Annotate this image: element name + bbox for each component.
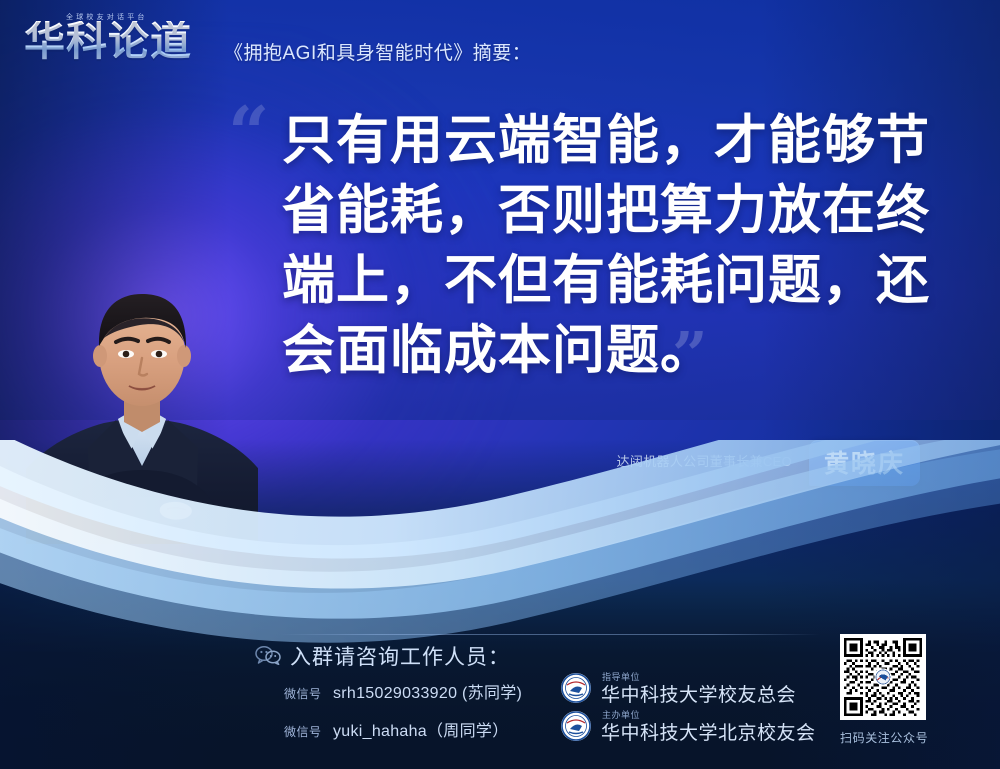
university-seal-icon <box>560 672 592 704</box>
footer-divider <box>280 634 820 635</box>
contact-label-2: 微信号 <box>284 725 322 739</box>
qr-code[interactable] <box>840 634 926 720</box>
brand-logo: 全球校友对话平台 华科论道 <box>24 12 214 74</box>
organization-name-2: 华中科技大学北京校友会 <box>601 718 816 745</box>
header-subtitle: 《拥抱AGI和具身智能时代》摘要： <box>224 38 531 65</box>
contact-value-1[interactable]: srh15029033920 (苏同学) <box>333 685 522 702</box>
quote-close-mark: ” <box>672 330 708 380</box>
qr-caption: 扫码关注公众号 <box>840 729 926 746</box>
logo-wordmark: 华科论道 <box>24 21 192 62</box>
quote-line-2: 省能耗，否则把算力放在终 <box>282 176 942 246</box>
quote-line-3: 端上，不但有能耗问题，还 <box>282 246 942 316</box>
header-bar: 全球校友对话平台 华科论道 《拥抱AGI和具身智能时代》摘要： <box>0 0 1000 92</box>
quote-open-mark: “ <box>228 104 269 162</box>
quote-block: 只有用云端智能，才能够节 省能耗，否则把算力放在终 端上，不但有能耗问题，还 会… <box>282 106 942 386</box>
contact-label-1: 微信号 <box>284 687 322 701</box>
wave-decoration <box>0 440 1000 660</box>
footer-title: 入群请咨询工作人员： <box>290 641 510 671</box>
organization-name-1: 华中科技大学校友总会 <box>601 680 796 707</box>
contact-row-1: 微信号 srh15029033920 (苏同学) <box>284 679 522 703</box>
contact-row-2: 微信号 yuki_hahaha（周同学） <box>284 717 509 741</box>
wechat-icon <box>255 645 281 665</box>
quote-line-4: 会面临成本问题。 <box>282 316 942 386</box>
poster-canvas: 全球校友对话平台 华科论道 《拥抱AGI和具身智能时代》摘要： <box>0 0 1000 769</box>
contact-value-2[interactable]: yuki_hahaha（周同学） <box>333 723 509 740</box>
quote-line-1: 只有用云端智能，才能够节 <box>282 106 942 176</box>
university-seal-icon <box>560 710 592 742</box>
